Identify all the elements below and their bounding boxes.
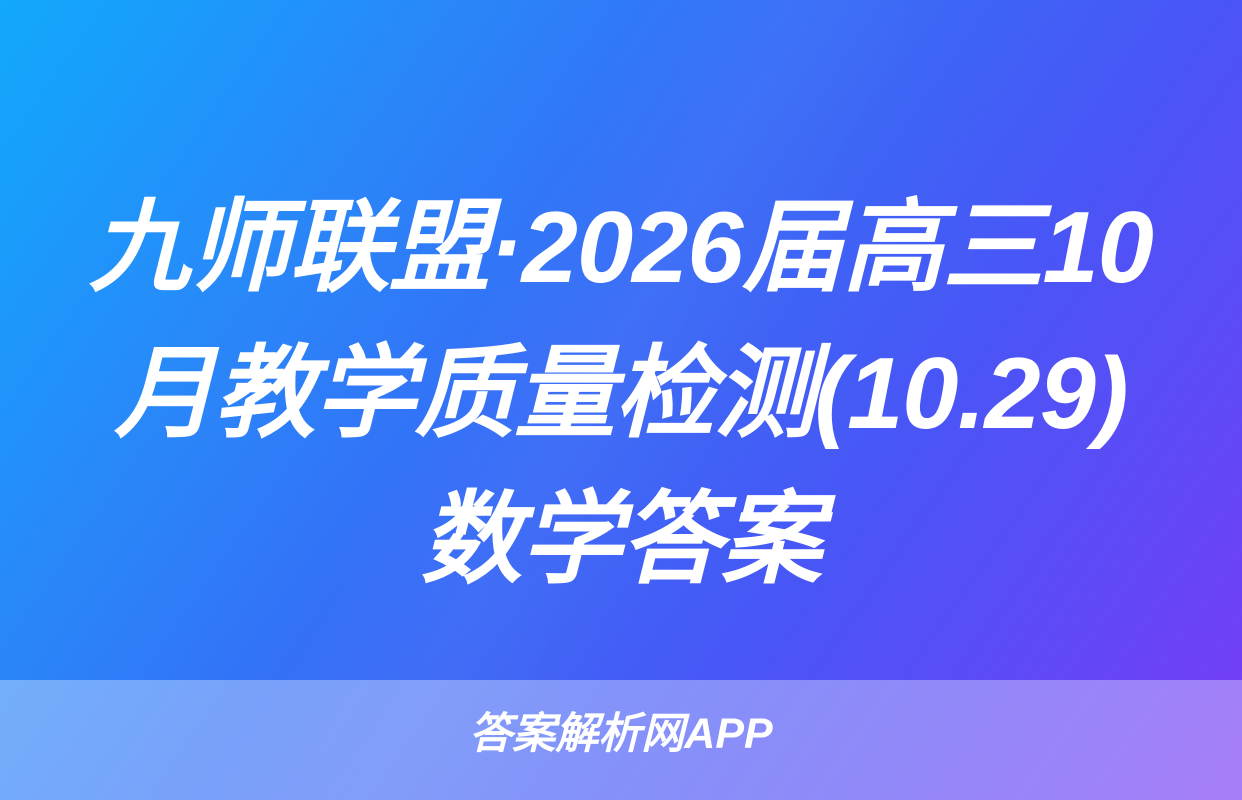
answer-poster: 九师联盟·2026届高三10 月教学质量检测(10.29) 数学答案 答案解析网… bbox=[0, 0, 1242, 800]
app-watermark: 答案解析网APP bbox=[0, 709, 1242, 759]
headline-line-1: 九师联盟·2026届高三10 bbox=[44, 175, 1198, 321]
headline-line-2: 月教学质量检测(10.29) bbox=[44, 321, 1198, 467]
poster-headline: 九师联盟·2026届高三10 月教学质量检测(10.29) 数学答案 bbox=[0, 175, 1242, 613]
headline-line-3: 数学答案 bbox=[44, 467, 1198, 613]
